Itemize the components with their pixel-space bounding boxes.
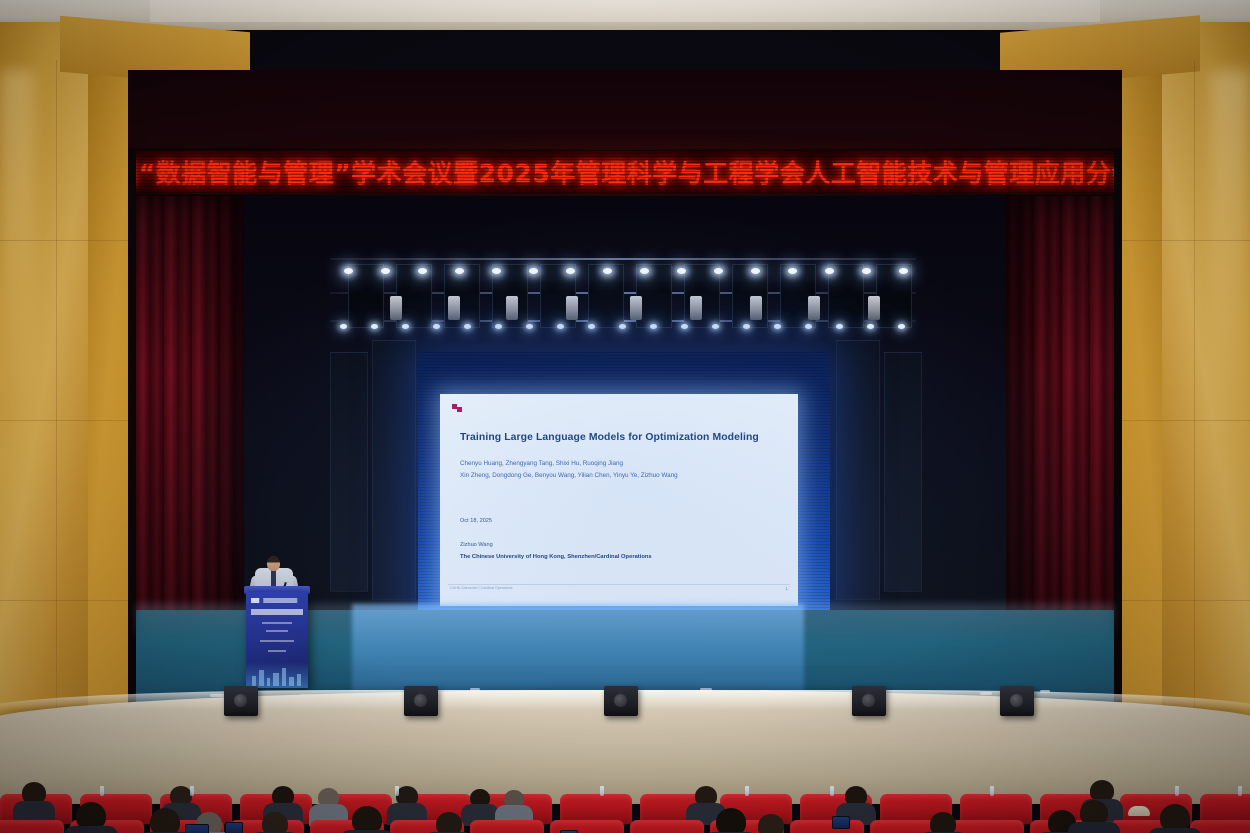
stage-lamp <box>557 324 564 329</box>
stage-lamp <box>862 268 871 274</box>
water-bottle <box>1238 786 1242 796</box>
speaker-lanyard <box>271 570 276 586</box>
wall-seam <box>1100 420 1250 421</box>
water-bottle <box>745 786 749 796</box>
moving-head-light <box>448 296 460 320</box>
slide-page-number: 1 <box>786 586 788 591</box>
podium-subtext <box>262 622 292 624</box>
left-wall-uplight <box>0 70 34 400</box>
audience-seat <box>0 820 64 833</box>
stage-lamp <box>650 324 657 329</box>
podium-title-bar <box>251 609 303 615</box>
speaker-head <box>267 556 280 571</box>
audience-head <box>930 812 956 833</box>
stage-lamp <box>640 268 649 274</box>
stage-lamp <box>381 268 390 274</box>
audience-shoulders <box>1148 828 1202 833</box>
audience-head <box>352 806 382 833</box>
water-bottle <box>830 786 834 796</box>
audience-seat <box>950 820 1024 833</box>
stage-lamp <box>371 324 378 329</box>
stage-lamp <box>619 324 626 329</box>
audience-seat <box>630 820 704 833</box>
audience-head <box>262 812 288 833</box>
acoustic-panel <box>836 340 880 600</box>
audience-area <box>0 742 1250 833</box>
truss-light-panel <box>828 264 864 328</box>
stage-lamp <box>588 324 595 329</box>
moving-head-light <box>390 296 402 320</box>
wall-seam <box>1194 60 1195 740</box>
stage-lamp <box>603 268 612 274</box>
moving-head-light <box>868 296 880 320</box>
slide-affiliation: The Chinese University of Hong Kong, She… <box>460 554 652 560</box>
truss-light-panel <box>348 264 384 328</box>
podium-skyline-graphic <box>246 662 308 688</box>
wall-seam <box>1100 240 1250 241</box>
stage-monitor-speaker <box>1000 686 1034 716</box>
stage-lamp <box>714 268 723 274</box>
hall-ceiling-inset <box>150 0 1100 22</box>
audience-tablet-screen <box>185 824 209 833</box>
stage-lamp <box>529 268 538 274</box>
stage-monitor-speaker <box>224 686 258 716</box>
banner-text: 第五届“数据智能与管理”学术会议暨2025年管理科学与工程学会人工智能技术与管理… <box>136 154 1114 190</box>
stage-lamp <box>455 268 464 274</box>
stage-lamp <box>712 324 719 329</box>
truss-bar <box>330 258 916 260</box>
stage-lamp <box>566 268 575 274</box>
stage-lamp <box>825 268 834 274</box>
truss-light-panel <box>876 264 912 328</box>
podium-subtext <box>268 650 286 652</box>
audience-head <box>716 808 746 833</box>
slide-authors-line1: Chenyu Huang, Zhengyang Tang, Shixi Hu, … <box>460 458 788 470</box>
wall-seam <box>1100 600 1250 601</box>
water-bottle <box>100 786 104 796</box>
podium-subtext <box>266 630 288 632</box>
audience-shoulders <box>64 826 118 833</box>
stage-lamp <box>340 324 347 329</box>
stage-monitor-speaker <box>852 686 886 716</box>
slide-footer-text: CUHK-Shenzhen / Cardinal Operations <box>450 586 513 590</box>
stage-lamp <box>743 324 750 329</box>
audience-head <box>758 814 784 833</box>
stage-lamp <box>788 268 797 274</box>
stage-lamp <box>898 324 905 329</box>
right-wall-uplight <box>1210 70 1250 430</box>
moving-head-light <box>808 296 820 320</box>
stage-lamp <box>899 268 908 274</box>
audience-head <box>436 812 462 833</box>
acoustic-panel <box>330 352 368 592</box>
water-bottle <box>395 786 399 796</box>
audience-seat <box>790 820 864 833</box>
water-bottle <box>990 786 994 796</box>
water-bottle <box>1175 786 1179 796</box>
slide-date: Oct 18, 2025 <box>460 518 492 524</box>
podium-logo-icon <box>251 598 301 603</box>
slide-authors-line2: Xin Zheng, Dongdong Ge, Benyou Wang, Yil… <box>460 470 788 482</box>
stage-lamp <box>751 268 760 274</box>
lighting-truss <box>330 252 916 348</box>
moving-head-light <box>506 296 518 320</box>
proscenium-header <box>128 70 1122 148</box>
audience-cap <box>1128 806 1150 816</box>
presentation-slide: Training Large Language Models for Optim… <box>440 394 798 606</box>
stage-lamp <box>681 324 688 329</box>
audience-seat <box>470 820 544 833</box>
stage-monitor-speaker <box>604 686 638 716</box>
stage-lamp <box>492 268 501 274</box>
audience-head <box>150 808 180 833</box>
moving-head-light <box>690 296 702 320</box>
stage-lamp <box>495 324 502 329</box>
institution-logo-icon <box>452 404 462 413</box>
audience-phone-screen <box>225 822 243 833</box>
conference-led-banner: 第五届“数据智能与管理”学术会议暨2025年管理科学与工程学会人工智能技术与管理… <box>136 150 1114 194</box>
wall-seam <box>56 60 57 740</box>
acoustic-panel <box>372 340 416 600</box>
slide-speaker-name: Zizhuo Wang <box>460 542 493 548</box>
stage-lamp <box>418 268 427 274</box>
stage-lamp <box>433 324 440 329</box>
stage-lamp <box>677 268 686 274</box>
stage-lamp <box>402 324 409 329</box>
stage-lamp <box>464 324 471 329</box>
moving-head-light <box>630 296 642 320</box>
slide-title: Training Large Language Models for Optim… <box>460 432 786 443</box>
stage-lamp <box>774 324 781 329</box>
stage-lamp <box>805 324 812 329</box>
moving-head-light <box>750 296 762 320</box>
water-bottle <box>190 786 194 796</box>
acoustic-panel <box>884 352 922 592</box>
audience-phone-screen <box>832 816 850 829</box>
water-bottle <box>600 786 604 796</box>
conference-podium <box>246 592 308 688</box>
stage-lamp <box>526 324 533 329</box>
slide-authors: Chenyu Huang, Zhengyang Tang, Shixi Hu, … <box>460 458 788 482</box>
moving-head-light <box>566 296 578 320</box>
stage-lamp <box>867 324 874 329</box>
audience-shoulders <box>1068 822 1120 833</box>
slide-footer-rule <box>448 584 790 585</box>
auditorium-photo: 第五届“数据智能与管理”学术会议暨2025年管理科学与工程学会人工智能技术与管理… <box>0 0 1250 833</box>
stage-lamp <box>836 324 843 329</box>
stage-lamp <box>344 268 353 274</box>
stage-monitor-speaker <box>404 686 438 716</box>
podium-subtext <box>260 640 294 642</box>
